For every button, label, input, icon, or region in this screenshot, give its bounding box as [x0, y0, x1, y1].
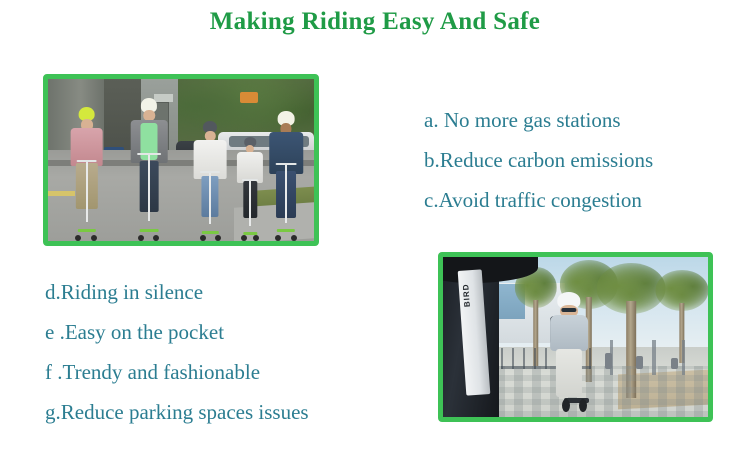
scooter-rider: [234, 137, 266, 241]
scooter-handlebar: [200, 171, 220, 173]
paving-tiles: [496, 366, 708, 417]
scooter-wheel: [275, 235, 281, 241]
scooter-rider: [192, 121, 229, 241]
scooter-deck: [140, 229, 159, 232]
list-item: f .Trendy and fashionable: [45, 352, 309, 392]
scooter-wheel: [253, 235, 259, 241]
scooter-wheel: [562, 399, 570, 412]
rider-torso: [550, 315, 588, 351]
scooter-stem: [285, 163, 287, 223]
scooter-handlebar: [242, 179, 258, 181]
orange-shop-sign: [240, 92, 259, 103]
scooter-rider: [128, 98, 171, 241]
pedestrian: [636, 356, 643, 369]
scooter-wheel: [241, 235, 247, 241]
scooter-rider: [266, 111, 306, 241]
bird-brand-label: BIRD: [461, 282, 486, 307]
scooter-deck: [202, 231, 218, 234]
pedestrian: [671, 358, 678, 369]
list-item: e .Easy on the pocket: [45, 312, 309, 352]
list-item: c.Avoid traffic congestion: [424, 180, 653, 220]
benefits-list-right: a. No more gas stations b.Reduce carbon …: [424, 100, 653, 220]
photo-beach-promenade: BIRD: [443, 257, 708, 417]
photo-group-riders: [48, 79, 314, 241]
scooter-handlebar: [137, 153, 161, 155]
sunglasses: [561, 308, 576, 312]
photo-beach-promenade-frame: BIRD: [438, 252, 713, 422]
list-item: a. No more gas stations: [424, 100, 653, 140]
scooter-stem: [209, 171, 211, 224]
scooter-stem: [86, 160, 88, 222]
benefits-list-left: d.Riding in silence e .Easy on the pocke…: [45, 272, 309, 432]
scooter-deck: [77, 229, 95, 232]
scooter-stem: [148, 153, 150, 221]
scooter-wheel: [153, 235, 159, 241]
page-title: Making Riding Easy And Safe: [0, 8, 750, 36]
scooter-stem: [249, 179, 251, 227]
scooter-wheel: [200, 235, 206, 241]
lamp-post: [652, 340, 655, 375]
list-item: b.Reduce carbon emissions: [424, 140, 653, 180]
scooter-deck: [277, 229, 295, 232]
scooter-wheel: [138, 235, 144, 241]
list-item: d.Riding in silence: [45, 272, 309, 312]
scooter-handlebar: [76, 160, 97, 162]
lamp-post: [682, 340, 685, 375]
scooter-wheel: [579, 399, 587, 412]
scooter-rider: [67, 107, 107, 241]
scooter-wheel: [291, 235, 297, 241]
rider-legs: [556, 349, 582, 397]
scooter-wheel: [75, 235, 81, 241]
scooter-handlebar: [276, 163, 297, 165]
photo-group-riders-frame: [43, 74, 319, 246]
list-item: g.Reduce parking spaces issues: [45, 392, 309, 432]
scooter-rider: [546, 292, 591, 412]
scooter-wheel: [91, 235, 97, 241]
scooter-wheel: [215, 235, 221, 241]
pedestrian: [605, 353, 612, 369]
